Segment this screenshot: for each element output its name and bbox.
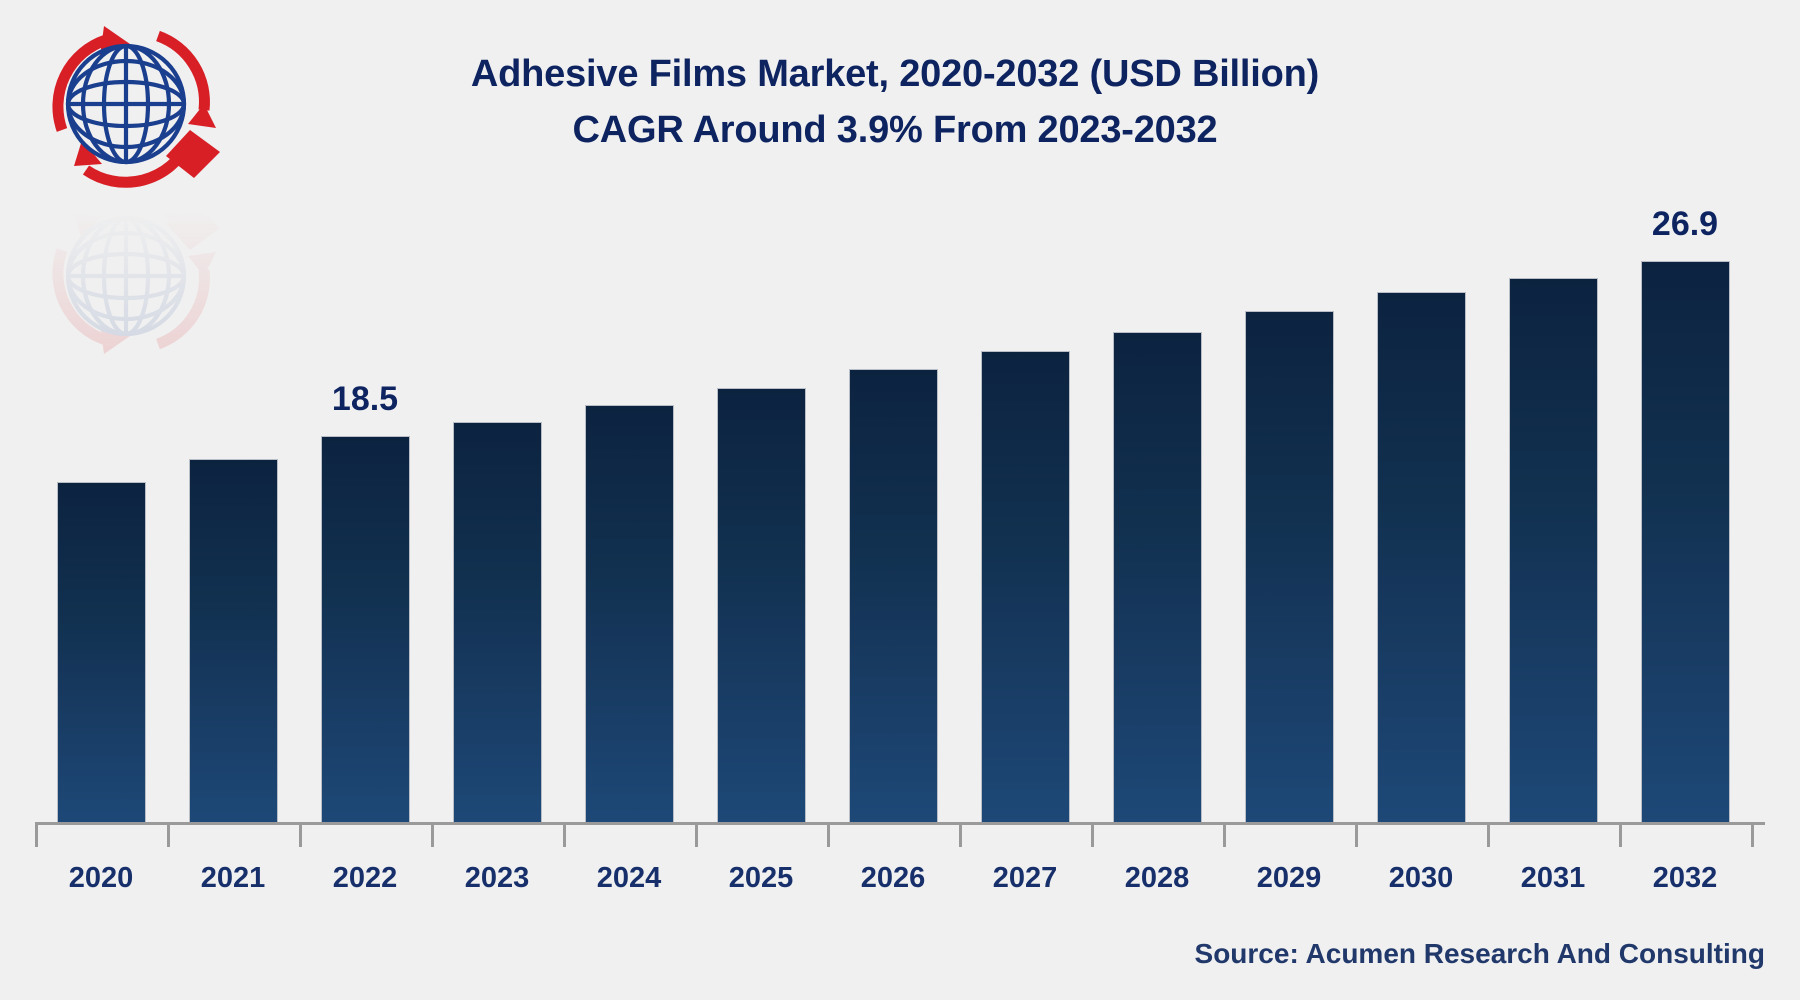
chart-title-block: Adhesive Films Market, 2020-2032 (USD Bi… — [230, 46, 1560, 158]
bar-2029 — [1245, 311, 1334, 823]
x-axis-label-2022: 2022 — [299, 862, 431, 895]
bar-2028 — [1113, 332, 1202, 823]
globe-arrows-logo-icon — [38, 18, 228, 188]
bar-2032 — [1641, 261, 1730, 823]
x-axis-label-2021: 2021 — [167, 862, 299, 895]
value-label-2022: 18.5 — [299, 380, 431, 419]
chart-subtitle: CAGR Around 3.9% From 2023-2032 — [230, 102, 1560, 158]
bar-2020 — [57, 482, 146, 823]
x-axis-label-2029: 2029 — [1223, 862, 1355, 895]
x-tick-2021 — [167, 825, 170, 847]
x-axis-label-2031: 2031 — [1487, 862, 1619, 895]
brand-logo-reflection — [38, 192, 228, 362]
x-tick-2031 — [1487, 825, 1490, 847]
x-axis-label-2032: 2032 — [1619, 862, 1751, 895]
x-axis-label-2030: 2030 — [1355, 862, 1487, 895]
x-tick-2029 — [1223, 825, 1226, 847]
bar-2031 — [1509, 278, 1598, 823]
bar-2024 — [585, 405, 674, 823]
bar-2023 — [453, 422, 542, 823]
bar-2022 — [321, 436, 410, 823]
x-tick-2023 — [431, 825, 434, 847]
x-tick-2032 — [1619, 825, 1622, 847]
globe-arrows-logo-reflection-icon — [38, 192, 228, 362]
x-tick-2020 — [35, 825, 38, 847]
x-tick-2028 — [1091, 825, 1094, 847]
x-axis-label-2027: 2027 — [959, 862, 1091, 895]
x-axis-label-2024: 2024 — [563, 862, 695, 895]
x-tick-2024 — [563, 825, 566, 847]
x-tick-2022 — [299, 825, 302, 847]
x-axis-label-2020: 2020 — [35, 862, 167, 895]
x-tick-2030 — [1355, 825, 1358, 847]
x-axis-label-2025: 2025 — [695, 862, 827, 895]
bar-2021 — [189, 459, 278, 823]
bar-2026 — [849, 369, 938, 823]
x-tick-2025 — [695, 825, 698, 847]
bar-slot-2032 — [1641, 0, 1730, 823]
x-axis-line — [35, 822, 1765, 825]
x-tick-2026 — [827, 825, 830, 847]
x-axis-label-2028: 2028 — [1091, 862, 1223, 895]
bar-2030 — [1377, 292, 1466, 823]
value-label-2032: 26.9 — [1619, 205, 1751, 244]
x-tick-end — [1751, 825, 1754, 847]
x-axis-label-2023: 2023 — [431, 862, 563, 895]
x-axis-label-2026: 2026 — [827, 862, 959, 895]
chart-title: Adhesive Films Market, 2020-2032 (USD Bi… — [230, 46, 1560, 102]
bar-2027 — [981, 351, 1070, 823]
brand-logo — [38, 18, 228, 188]
source-note: Source: Acumen Research And Consulting — [1195, 938, 1765, 970]
bar-2025 — [717, 388, 806, 823]
x-tick-2027 — [959, 825, 962, 847]
chart-canvas: Adhesive Films Market, 2020-2032 (USD Bi… — [0, 0, 1800, 1000]
